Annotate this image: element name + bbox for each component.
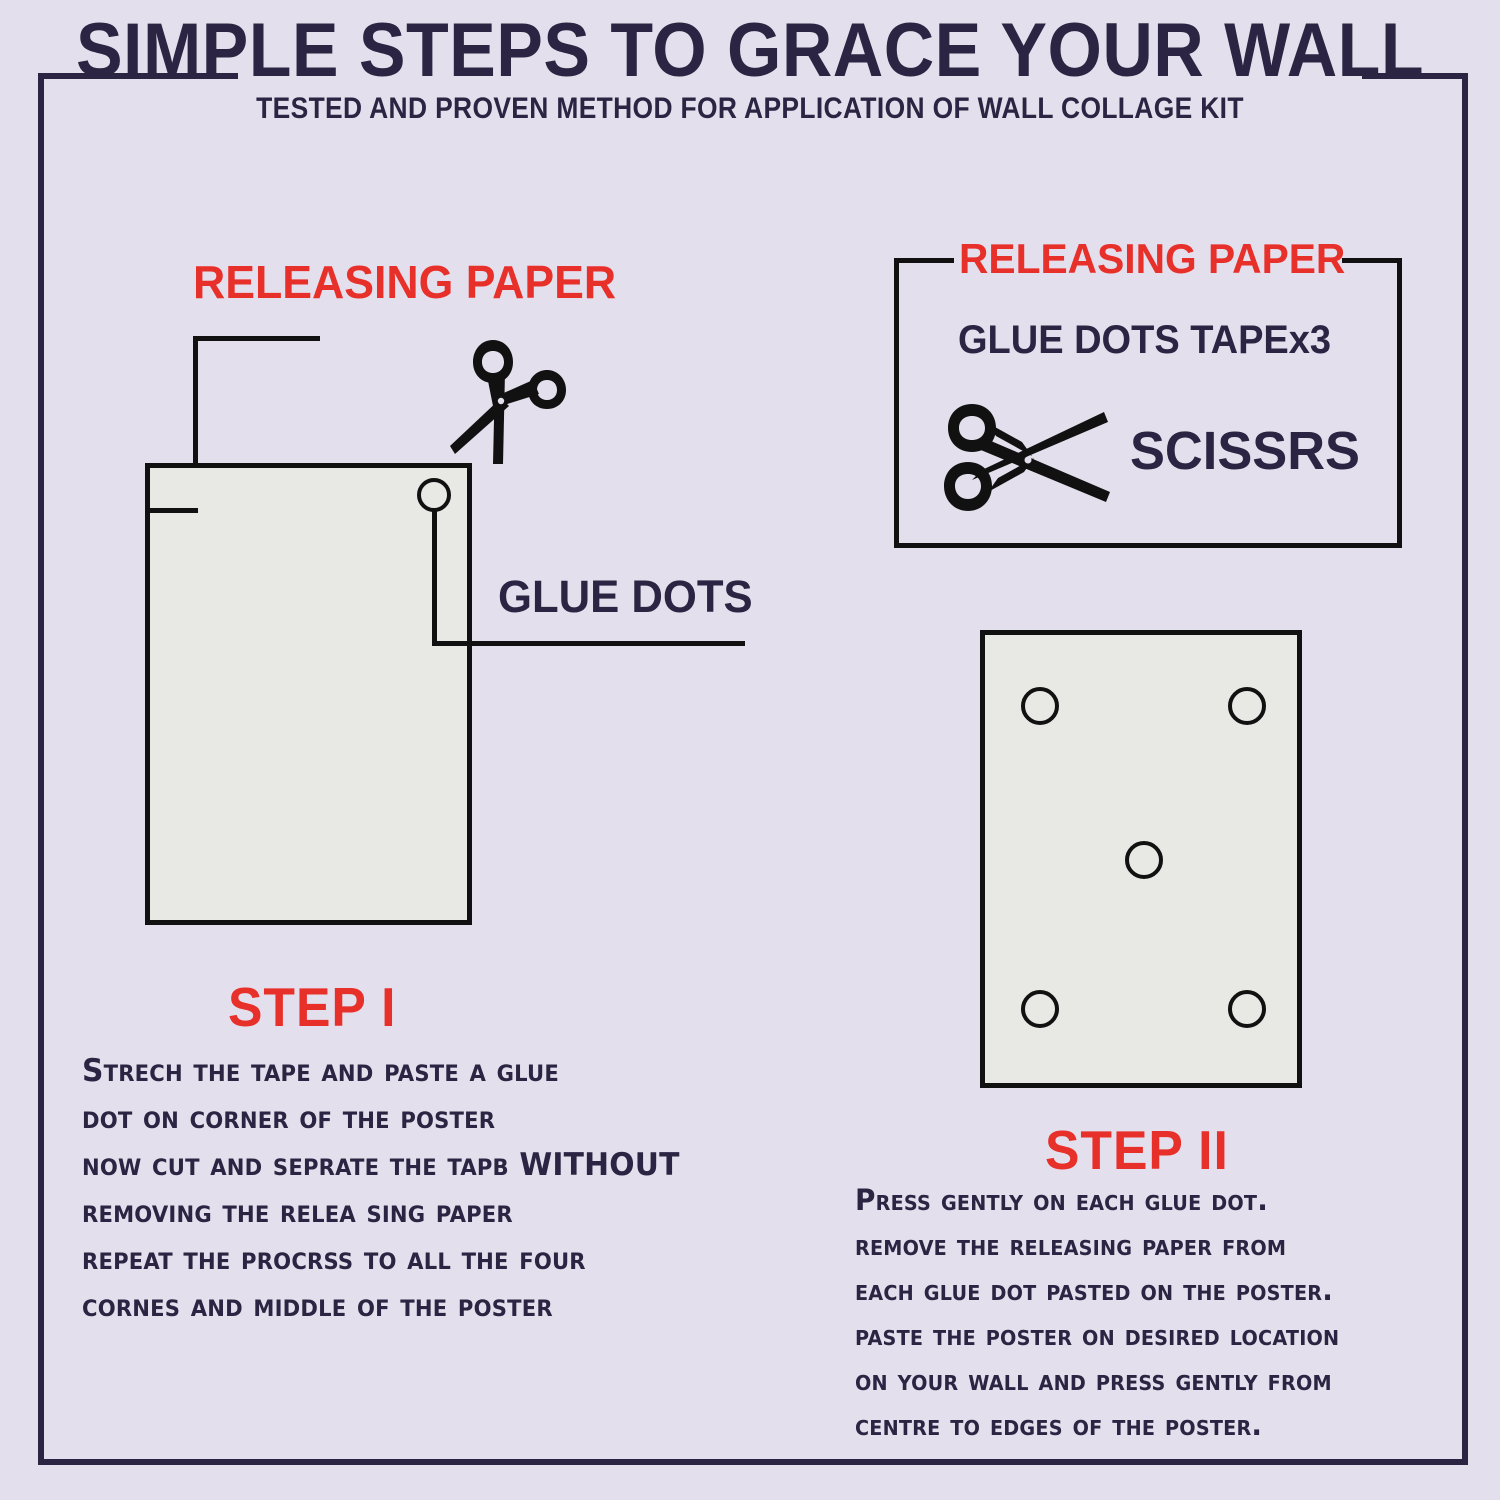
materials-box-top-right-border	[1342, 258, 1402, 263]
frame-top-left-border	[38, 73, 238, 79]
frame-left-border	[38, 73, 44, 1465]
releasing-paper-label-left: RELEASING PAPER	[193, 255, 616, 309]
step-one-heading: STEP I	[228, 975, 396, 1039]
materials-box-heading: RELEASING PAPER	[959, 235, 1345, 283]
poster-diagram-step-two	[980, 630, 1302, 1088]
header: SIMPLE STEPS TO GRACE YOUR WALL TESTED A…	[0, 16, 1500, 126]
step-two-body: Press gently on each glue dot. remove th…	[855, 1178, 1431, 1448]
page-subtitle: TESTED AND PROVEN METHOD FOR APPLICATION…	[90, 92, 1410, 126]
materials-box-right-border	[1397, 258, 1402, 548]
glue-dots-leader-vertical	[432, 510, 437, 645]
releasing-paper-corner-flap	[145, 508, 198, 513]
page-title: SIMPLE STEPS TO GRACE YOUR WALL	[60, 16, 1440, 86]
frame-bottom-border	[38, 1459, 1468, 1465]
glue-dots-tape-item-label: GLUE DOTS TAPEx3	[958, 318, 1331, 363]
materials-box-top-left-border	[894, 258, 954, 263]
materials-box-bottom-border	[894, 543, 1402, 548]
releasing-paper-leader-horizontal	[193, 336, 320, 341]
glue-dot-top-right	[1228, 687, 1266, 725]
glue-dot-center	[1125, 841, 1163, 879]
glue-dot-top-left	[1021, 687, 1059, 725]
glue-dot-bottom-left	[1021, 990, 1059, 1028]
step-one-body: Strech the tape and paste a glue dot on …	[82, 1048, 783, 1330]
materials-box-left-border	[894, 258, 899, 548]
glue-dot-bottom-right	[1228, 990, 1266, 1028]
step-two-heading: STEP II	[1045, 1118, 1229, 1182]
frame-right-border	[1462, 73, 1468, 1465]
scissors-icon	[936, 398, 1116, 518]
frame-top-right-border	[1362, 73, 1468, 79]
glue-dot-marker	[417, 478, 451, 512]
poster-diagram-step-one	[145, 463, 472, 925]
glue-dots-label: GLUE DOTS	[498, 571, 753, 623]
scissors-icon	[443, 332, 583, 472]
infographic-page: SIMPLE STEPS TO GRACE YOUR WALL TESTED A…	[0, 0, 1500, 1500]
scissors-item-label: SCISSRS	[1130, 420, 1360, 482]
glue-dots-leader-horizontal	[432, 641, 745, 646]
